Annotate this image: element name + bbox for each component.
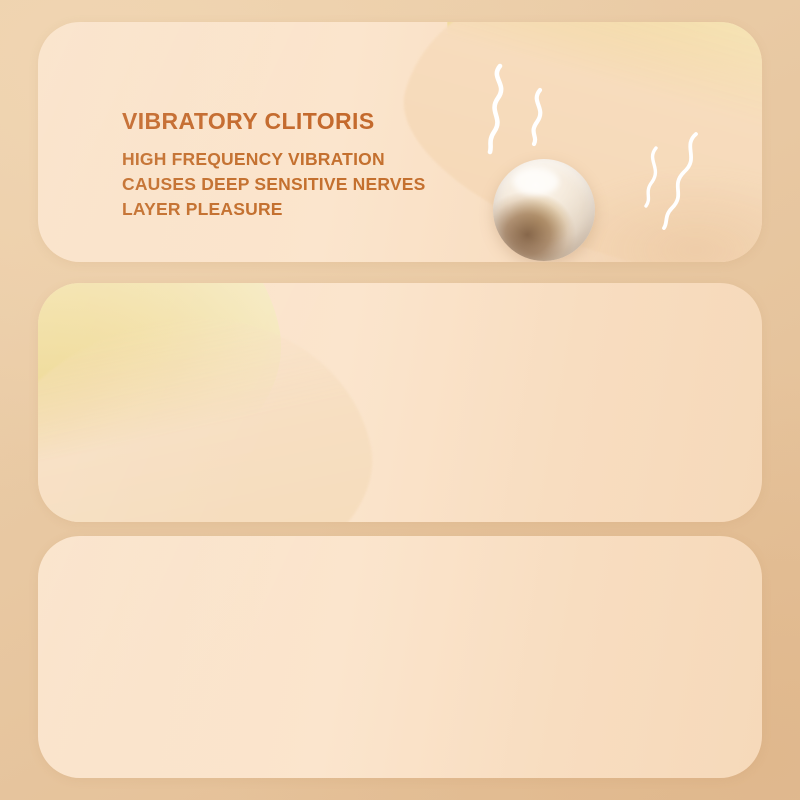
card1-body: HIGH FREQUENCY VIBRATION CAUSES DEEP SEN…: [122, 147, 426, 222]
card2-artwork: [38, 283, 762, 522]
card3-artwork: G: [38, 536, 762, 778]
vibration-wave-icon-group-right: [628, 128, 748, 248]
wand-shaft-shape: [38, 283, 305, 522]
feature-card-vibratory-clitoris: VIBRATORY CLITORIS HIGH FREQUENCY VIBRAT…: [38, 22, 762, 262]
feature-card-suck-on-the-clitoris: SUCK ON THE CLITORIS WRAP THE SUCKING HO…: [38, 283, 762, 522]
card-sheen-overlay: [38, 536, 762, 778]
infographic-page: VIBRATORY CLITORIS HIGH FREQUENCY VIBRAT…: [0, 0, 800, 800]
card1-title: VIBRATORY CLITORIS: [122, 110, 426, 133]
card1-body-line-2: CAUSES DEEP SENSITIVE NERVES: [122, 172, 426, 197]
card1-text-block: VIBRATORY CLITORIS HIGH FREQUENCY VIBRAT…: [122, 110, 426, 222]
vibration-wave-icon-group-left: [468, 56, 588, 176]
card1-body-line-1: HIGH FREQUENCY VIBRATION: [122, 147, 426, 172]
card1-body-line-3: LAYER PLEASURE: [122, 197, 426, 222]
feature-card-high-water-entry: G HIGH WATER ENTRY DEEP INSIDE THE BODY …: [38, 536, 762, 778]
